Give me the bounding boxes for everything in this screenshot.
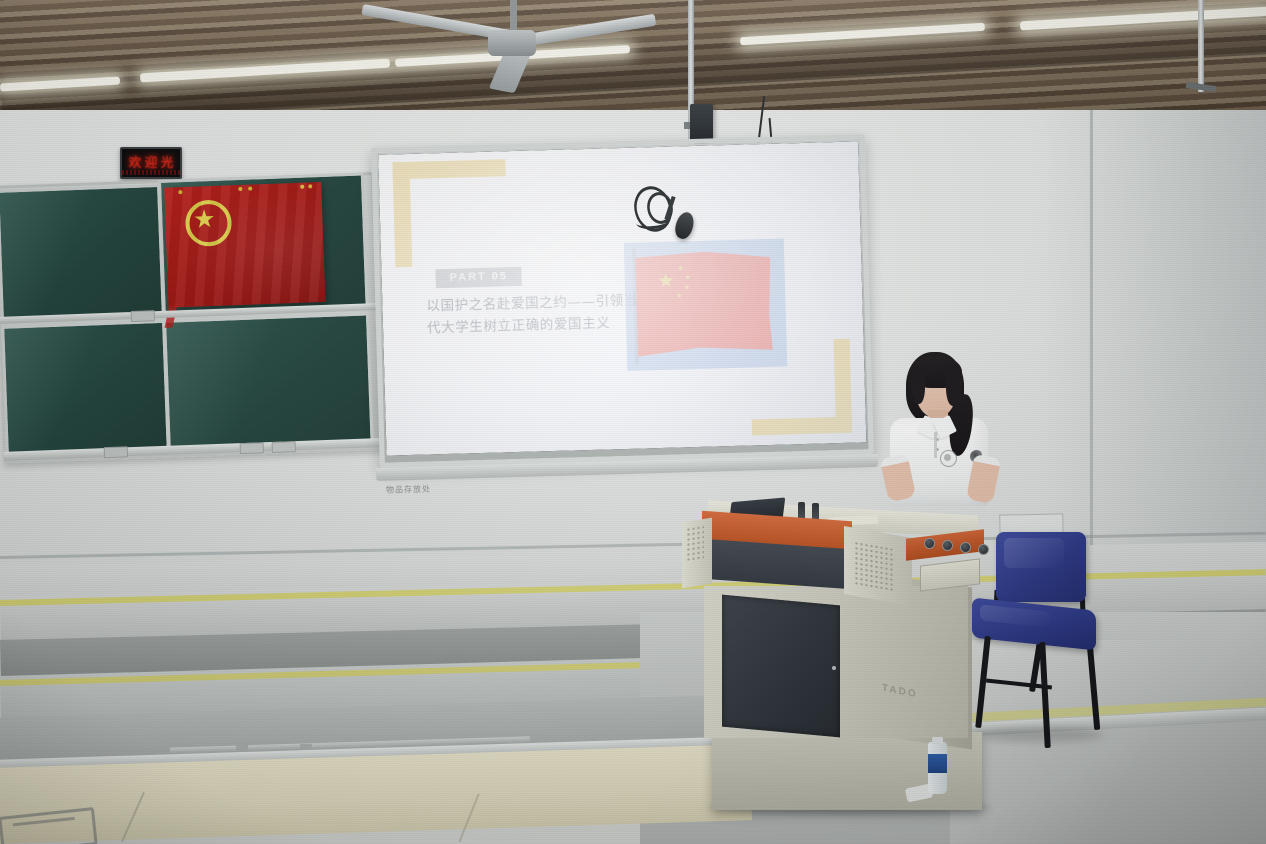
chair-highlight xyxy=(1004,538,1064,568)
chalkboard-assembly xyxy=(0,172,384,464)
multimedia-lectern[interactable]: TADO xyxy=(676,486,1006,822)
flag-pin xyxy=(300,185,304,189)
shirt-button xyxy=(936,438,939,441)
chinese-flag-shape xyxy=(635,250,773,358)
interactive-whiteboard[interactable]: PART 05 以国护之名赴爱国之约——引领当 代大学生树立正确的爱国主义 xyxy=(371,134,874,468)
communist-youth-league-flag xyxy=(164,182,325,308)
slide-corner-decoration xyxy=(750,339,853,436)
led-char: 光 xyxy=(161,157,174,170)
control-knob[interactable] xyxy=(978,544,989,555)
chalkboard-panel xyxy=(1,320,170,460)
flag-star-icon xyxy=(658,273,674,289)
slide-flag-image xyxy=(624,239,788,371)
whiteboard-display[interactable]: PART 05 以国护之名赴爱国之约——引领当 代大学生树立正确的爱国主义 xyxy=(378,141,866,455)
flag-star-icon xyxy=(677,265,683,271)
chalkboard-slider-clip xyxy=(131,310,155,322)
lectern-desktop xyxy=(688,504,978,562)
slide-title: 以国护之名赴爱国之约——引领当 代大学生树立正确的爱国主义 xyxy=(426,290,642,340)
ceiling-fan-rod xyxy=(510,0,517,34)
flag-star-icon xyxy=(685,274,691,280)
flag-pin xyxy=(238,187,242,191)
slide-corner-decoration xyxy=(392,159,508,267)
slide-title-line: 代大学生树立正确的爱国主义 xyxy=(427,312,643,340)
shirt-button xyxy=(936,448,939,451)
ceiling-pole-right xyxy=(1198,0,1204,92)
shirt-placket xyxy=(934,432,937,458)
chalkboard-slider-clip xyxy=(240,442,264,454)
lectern-equipment-door[interactable] xyxy=(722,595,840,738)
shirt-logo-icon xyxy=(944,454,951,461)
league-emblem-ring xyxy=(185,199,233,247)
flag-star-icon xyxy=(676,292,682,298)
slide-title-line: 以国护之名赴爱国之约——引领当 xyxy=(426,290,642,318)
chalkboard-panel xyxy=(163,312,374,453)
slide-part-tag: PART 05 xyxy=(435,267,522,288)
led-char: 迎 xyxy=(144,157,157,170)
bottle-label xyxy=(928,754,947,773)
control-knob[interactable] xyxy=(924,538,935,549)
speaker-grille xyxy=(854,540,894,591)
led-scrolling-sign: 欢 迎 光 xyxy=(120,147,182,179)
speaker-grille xyxy=(686,525,704,562)
presentation-slide: PART 05 以国护之名赴爱国之约——引领当 代大学生树立正确的爱国主义 xyxy=(378,141,866,455)
chalkboard-slider-clip xyxy=(272,441,296,453)
ceiling-fan-motor xyxy=(488,30,536,56)
classroom-photo: 欢 迎 光 xyxy=(0,0,1266,844)
flag-pin xyxy=(248,187,252,191)
hair-strand xyxy=(911,366,925,404)
lectern-door-lock[interactable] xyxy=(832,666,836,670)
flag-pin xyxy=(178,190,182,194)
bottle-cap xyxy=(932,737,943,744)
led-char: 欢 xyxy=(128,157,141,170)
flag-pin xyxy=(308,184,312,188)
chalkboard-panel xyxy=(0,184,165,326)
wall-sign: 物品存放处 xyxy=(386,483,431,495)
control-knob[interactable] xyxy=(960,542,971,553)
league-star-icon xyxy=(194,209,215,230)
flag-pole xyxy=(632,249,639,365)
chalkboard-slider-clip xyxy=(104,446,128,458)
control-knob[interactable] xyxy=(942,540,953,551)
flag-star-icon xyxy=(684,284,690,290)
wall-corner-edge xyxy=(1090,110,1093,580)
